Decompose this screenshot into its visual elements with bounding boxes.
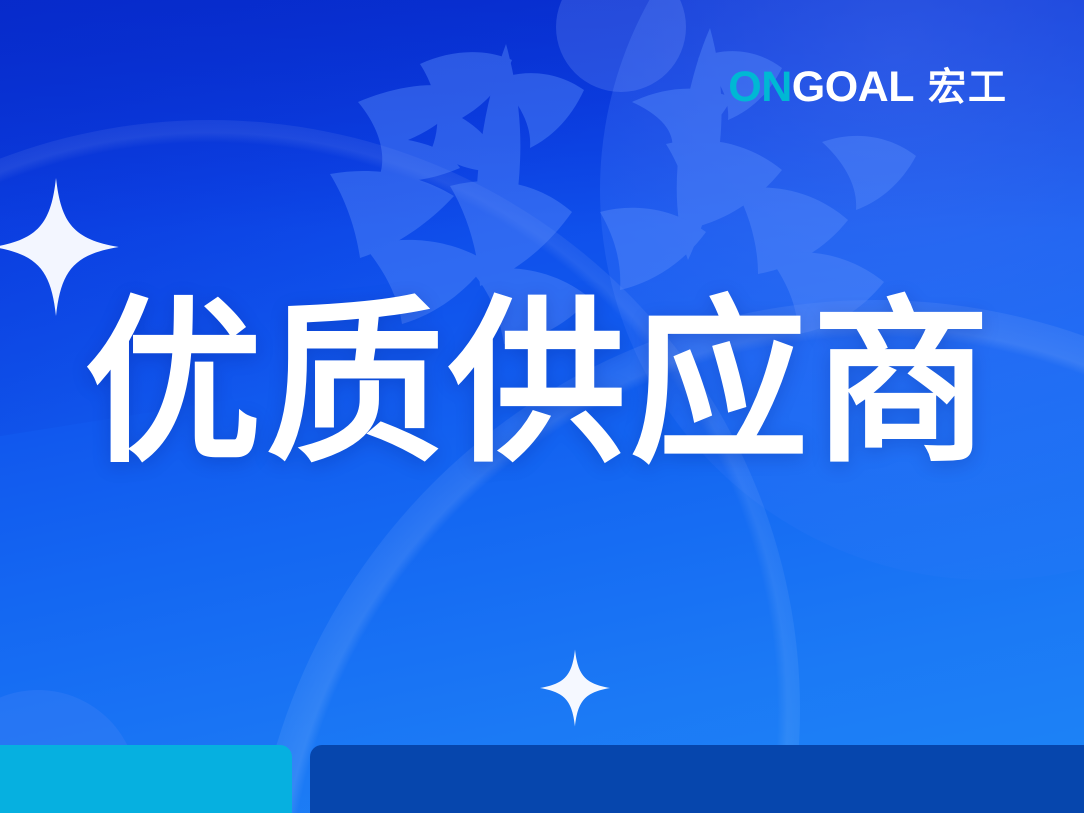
footer-bar-cyan xyxy=(0,745,292,813)
decorative-circle-top xyxy=(556,0,686,92)
sparkle-icon xyxy=(540,648,610,728)
brand-logo-on: ON xyxy=(728,63,792,111)
brand-logo: ONGOAL 宏工 xyxy=(728,61,1008,113)
page-title: 优质供应商 xyxy=(84,288,1014,480)
brand-logo-wordmark: ONGOAL xyxy=(728,66,914,109)
brand-logo-goal: GOAL xyxy=(792,63,914,111)
footer-bar-navy xyxy=(310,745,1084,813)
brand-logo-chinese: 宏工 xyxy=(928,68,1008,106)
top-shade-overlay xyxy=(0,0,1084,230)
poster-canvas: ONGOAL 宏工 优质供应商 xyxy=(0,0,1084,813)
